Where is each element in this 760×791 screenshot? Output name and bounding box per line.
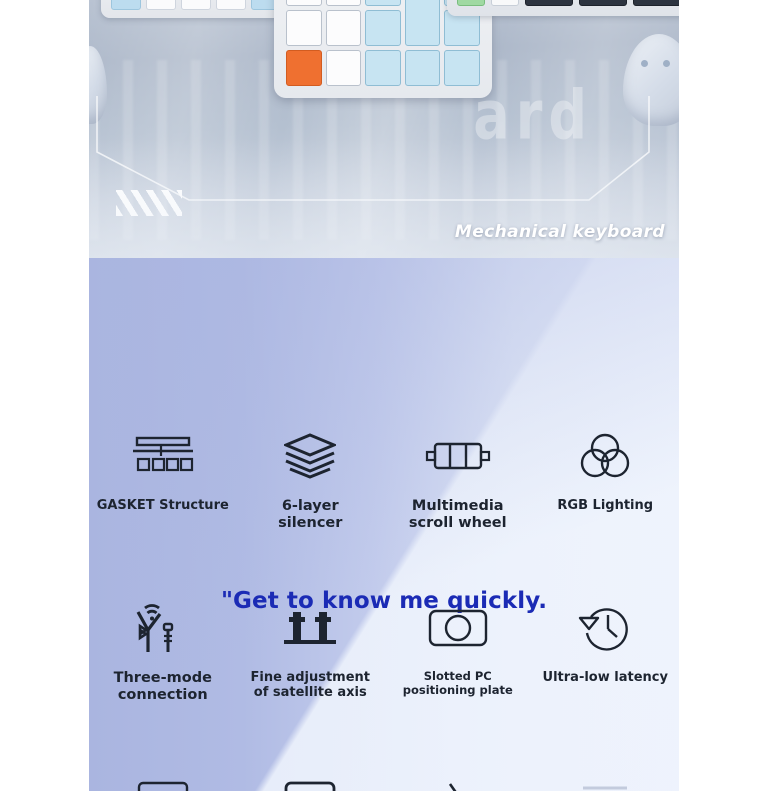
feature-label: RGB Lighting	[557, 498, 653, 513]
rgb-venn-icon	[580, 426, 630, 486]
layers-stack-icon	[284, 426, 336, 486]
features-row-3-partial	[89, 770, 679, 791]
keycap-outline-icon	[135, 770, 191, 791]
feature-gasket-structure[interactable]: GASKET Structure	[89, 426, 237, 532]
bar-outline-icon	[577, 770, 633, 791]
keycap-esc	[286, 50, 322, 86]
gasket-plate-icon	[131, 426, 195, 486]
page-content-column: ard Mechanical keyboard "Get to know me …	[89, 0, 679, 791]
features-grid: GASKET Structure 6-layer silencer	[89, 258, 679, 791]
keyboard-right-partial	[447, 0, 679, 16]
feature-row3-item-1[interactable]	[89, 770, 237, 791]
keycap-outline-icon	[282, 770, 338, 791]
hero-product-photo: ard Mechanical keyboard	[89, 0, 679, 258]
satellite-axis-icon	[280, 598, 340, 658]
feature-row3-item-4[interactable]	[532, 770, 680, 791]
feature-label: Three-mode connection	[114, 670, 212, 704]
feature-row3-item-3[interactable]	[384, 770, 532, 791]
features-panel: "Get to know me quickly.	[89, 258, 679, 791]
feature-label: GASKET Structure	[97, 498, 229, 513]
scroll-wheel-icon	[425, 426, 491, 486]
feature-label: Ultra-low latency	[543, 670, 668, 685]
feature-row3-item-2[interactable]	[237, 770, 385, 791]
feature-slotted-pc-plate[interactable]: Slotted PC positioning plate	[384, 598, 532, 704]
feature-satellite-axis[interactable]: Fine adjustment of satellite axis	[237, 598, 385, 704]
feature-label: 6-layer silencer	[278, 498, 342, 532]
feature-rgb-lighting[interactable]: RGB Lighting	[532, 426, 680, 532]
keyboard-right-keyrow	[457, 0, 679, 6]
rewind-clock-icon	[577, 598, 633, 658]
feature-label: Slotted PC positioning plate	[403, 670, 513, 697]
hero-caption: Mechanical keyboard	[455, 222, 665, 242]
features-row-1: GASKET Structure 6-layer silencer	[89, 426, 679, 532]
feature-multimedia-scroll-wheel[interactable]: Multimedia scroll wheel	[384, 426, 532, 532]
feature-ultra-low-latency[interactable]: Ultra-low latency	[532, 598, 680, 704]
feature-label: Fine adjustment of satellite axis	[250, 670, 370, 701]
diagonal-stroke-icon	[430, 770, 486, 791]
features-row-2: Three-mode connection Fine adjustment of…	[89, 598, 679, 704]
feature-three-mode-connection[interactable]: Three-mode connection	[89, 598, 237, 704]
feature-6-layer-silencer[interactable]: 6-layer silencer	[237, 426, 385, 532]
slotted-plate-icon	[427, 598, 489, 658]
three-mode-connection-icon	[134, 598, 192, 658]
product-detail-page: ard Mechanical keyboard "Get to know me …	[0, 0, 760, 791]
feature-label: Multimedia scroll wheel	[409, 498, 507, 532]
